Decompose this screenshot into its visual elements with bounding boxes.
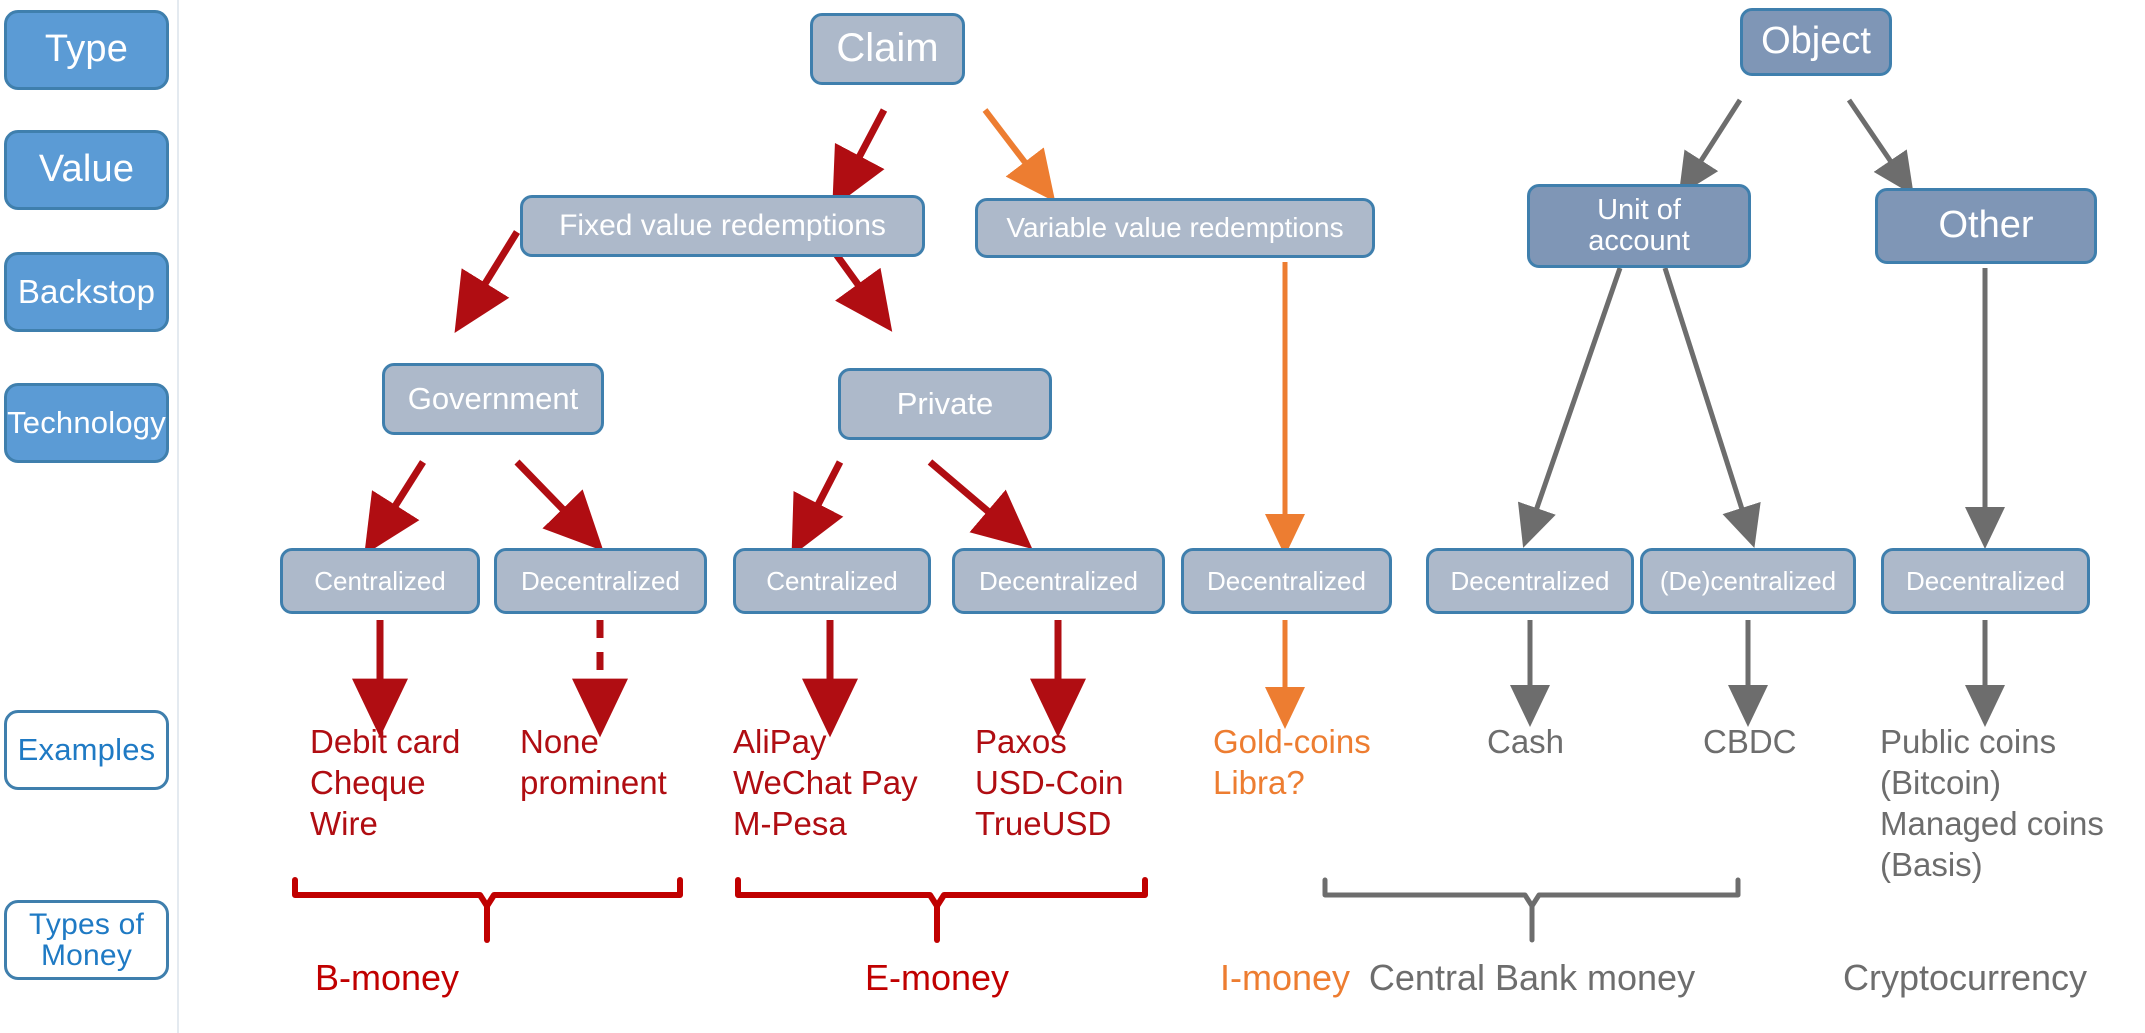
edge-claim-to-variable-value — [985, 110, 1040, 182]
node-tech-uoa-decentralized-label: Decentralized — [1451, 567, 1610, 595]
node-tech-other-decentralized-label: Decentralized — [1906, 567, 2065, 595]
node-tech-variable-decentralized-label: Decentralized — [1207, 567, 1366, 595]
examples-crypto: Public coins (Bitcoin) Managed coins (Ba… — [1880, 722, 2104, 886]
node-tech-variable-decentralized[interactable]: Decentralized — [1181, 548, 1392, 614]
bracket-central-bank-money — [1325, 880, 1738, 940]
node-other[interactable]: Other — [1875, 188, 2097, 264]
node-tech-gov-decentralized[interactable]: Decentralized — [494, 548, 707, 614]
node-tech-priv-centralized[interactable]: Centralized — [733, 548, 931, 614]
examples-cash: Cash — [1487, 722, 1564, 763]
bracket-b-money — [295, 880, 680, 940]
edge-private-to-decentralized — [930, 462, 1010, 530]
row-label-type-text: Type — [45, 30, 128, 70]
node-unit-of-account-label: Unit of account — [1588, 195, 1690, 258]
edge-uoa-to-de-centralized — [1665, 268, 1748, 528]
node-tech-uoa-de-centralized-label: (De)centralized — [1660, 567, 1836, 595]
node-tech-priv-decentralized[interactable]: Decentralized — [952, 548, 1165, 614]
diagram-canvas: Type Value Backstop Technology Examples … — [0, 0, 2145, 1033]
row-label-backstop-text: Backstop — [18, 275, 155, 310]
examples-b-gov-centralized: Debit card Cheque Wire — [310, 722, 460, 845]
node-variable-value-redemptions[interactable]: Variable value redemptions — [975, 198, 1375, 258]
row-label-value[interactable]: Value — [4, 130, 169, 210]
node-tech-gov-decentralized-label: Decentralized — [521, 567, 680, 595]
row-label-backstop[interactable]: Backstop — [4, 252, 169, 332]
examples-b-gov-decentralized: None prominent — [520, 722, 667, 804]
node-tech-gov-centralized[interactable]: Centralized — [280, 548, 480, 614]
node-tech-priv-decentralized-label: Decentralized — [979, 567, 1138, 595]
node-tech-uoa-de-centralized[interactable]: (De)centralized — [1640, 548, 1856, 614]
money-label-central-bank-money: Central Bank money — [1369, 957, 1695, 999]
node-claim-label: Claim — [836, 27, 938, 70]
node-tech-priv-centralized-label: Centralized — [766, 567, 898, 595]
examples-cbdc: CBDC — [1703, 722, 1797, 763]
examples-e-priv-centralized: AliPay WeChat Pay M-Pesa — [733, 722, 918, 845]
row-label-technology[interactable]: Technology — [4, 383, 169, 463]
node-object-label: Object — [1761, 21, 1871, 62]
money-label-cryptocurrency: Cryptocurrency — [1843, 957, 2087, 999]
node-private-label: Private — [897, 387, 993, 420]
connector-layer — [0, 0, 2145, 1033]
edge-fixed-value-to-government — [470, 232, 517, 308]
row-label-type[interactable]: Type — [4, 10, 169, 90]
edge-tech-to-examples — [380, 620, 1985, 708]
row-label-value-text: Value — [39, 150, 134, 190]
edge-government-to-centralized — [380, 462, 423, 530]
node-tech-gov-centralized-label: Centralized — [314, 567, 446, 595]
node-other-label: Other — [1938, 205, 2033, 246]
node-tech-uoa-decentralized[interactable]: Decentralized — [1426, 548, 1634, 614]
node-private[interactable]: Private — [838, 368, 1052, 440]
money-label-i-money: I-money — [1220, 957, 1350, 999]
edge-object-to-other — [1849, 100, 1902, 178]
row-label-types-of-money-text: Types of Money — [29, 909, 144, 972]
node-tech-other-decentralized[interactable]: Decentralized — [1881, 548, 2090, 614]
edge-object-to-unit-of-account — [1690, 100, 1740, 178]
edge-government-to-decentralized — [517, 462, 583, 530]
examples-e-priv-decentralized: Paxos USD-Coin TrueUSD — [975, 722, 1124, 845]
node-fixed-value-redemptions-label: Fixed value redemptions — [559, 210, 886, 242]
money-label-e-money: E-money — [865, 957, 1009, 999]
edge-claim-to-fixed-value — [846, 110, 884, 182]
examples-i-money: Gold-coins Libra? — [1213, 722, 1371, 804]
node-object[interactable]: Object — [1740, 8, 1892, 76]
money-label-b-money: B-money — [315, 957, 459, 999]
row-label-examples[interactable]: Examples — [4, 710, 169, 790]
row-label-technology-text: Technology — [7, 407, 166, 440]
bracket-e-money — [738, 880, 1145, 940]
node-fixed-value-redemptions[interactable]: Fixed value redemptions — [520, 195, 925, 257]
edge-uoa-to-decentralized — [1530, 268, 1620, 528]
edge-private-to-centralized — [805, 462, 840, 530]
node-government[interactable]: Government — [382, 363, 604, 435]
node-claim[interactable]: Claim — [810, 13, 965, 85]
row-label-examples-text: Examples — [18, 734, 156, 767]
row-label-types-of-money[interactable]: Types of Money — [4, 900, 169, 980]
node-unit-of-account[interactable]: Unit of account — [1527, 184, 1751, 268]
node-government-label: Government — [408, 382, 579, 415]
node-variable-value-redemptions-label: Variable value redemptions — [1006, 213, 1343, 243]
